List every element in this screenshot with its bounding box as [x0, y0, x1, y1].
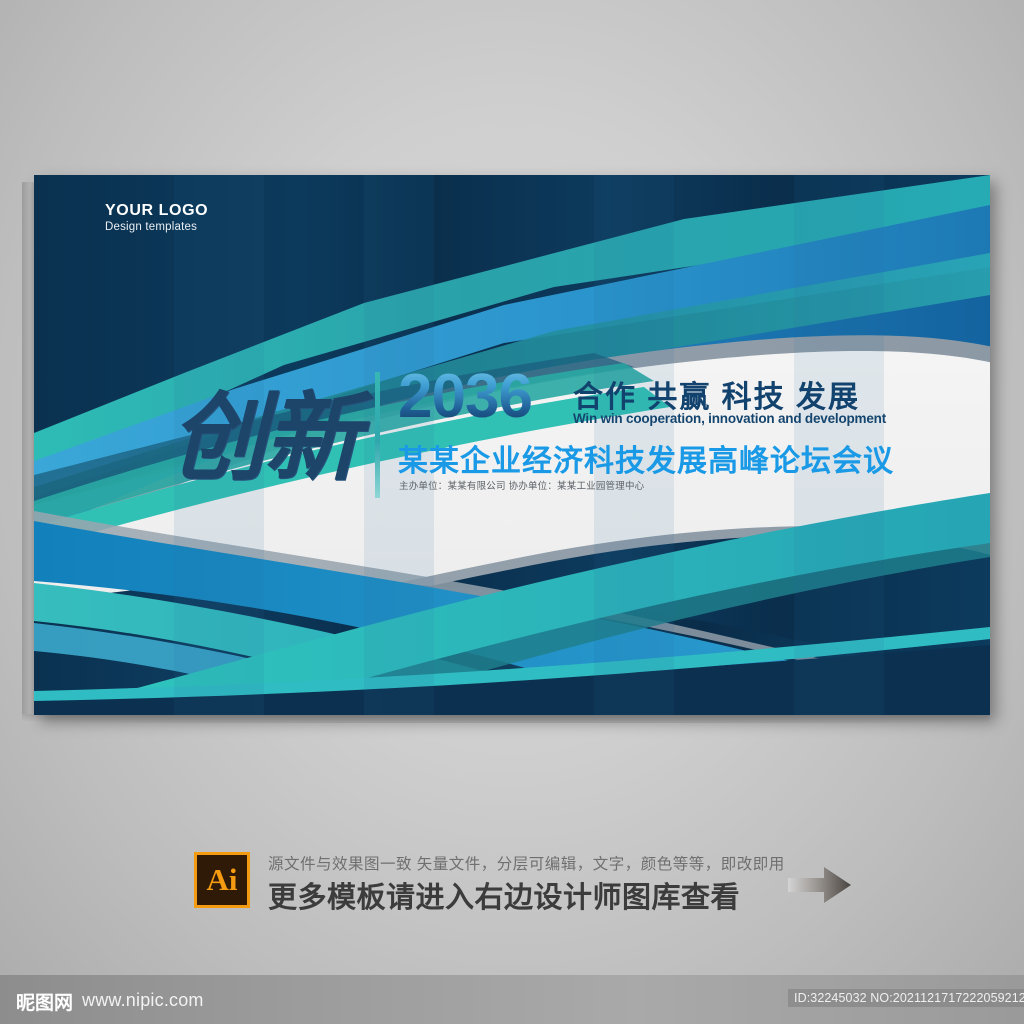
promo-description: 源文件与效果图一致 矢量文件，分层可编辑，文字，颜色等等，即改即用	[268, 852, 785, 874]
slogan-en: Win win cooperation, innovation and deve…	[573, 411, 886, 426]
year-title: 2036	[398, 366, 532, 428]
conference-subtitle: 某某企业经济科技发展高峰论坛会议	[398, 436, 894, 480]
poster-canvas: YOUR LOGO Design templates 创新 2036 合作 共赢…	[0, 0, 1024, 1024]
site-footer: 昵图网 www.nipic.com ID:32245032 NO:2021121…	[0, 975, 1024, 1024]
promo-headline: 更多模板请进入右边设计师图库查看	[268, 874, 740, 916]
logo-title: YOUR LOGO	[105, 203, 208, 219]
asset-id-badge: ID:32245032 NO:20211217172220592122	[788, 989, 1024, 1007]
slogan-cn: 合作 共赢 科技 发展	[573, 372, 860, 416]
headline-block: 创新 2036 合作 共赢 科技 发展 Win win cooperation,…	[170, 360, 910, 515]
footer-brand-cn: 昵图网	[16, 988, 73, 1015]
banner-bottom-edge-shadow	[22, 714, 990, 723]
brand-logo: YOUR LOGO Design templates	[105, 203, 208, 234]
organizer-line: 主办单位：某某有限公司 协办单位：某某工业园管理中心	[399, 478, 644, 492]
footer-brand-url[interactable]: www.nipic.com	[82, 990, 204, 1011]
logo-subtitle: Design templates	[105, 222, 208, 234]
promo-strip: Ai 源文件与效果图一致 矢量文件，分层可编辑，文字，颜色等等，即改即用 更多模…	[190, 848, 850, 914]
arrow-right-icon	[788, 866, 852, 904]
illustrator-icon: Ai	[194, 852, 250, 908]
calligraphy-title: 创新	[170, 368, 366, 508]
vertical-divider	[375, 372, 380, 498]
